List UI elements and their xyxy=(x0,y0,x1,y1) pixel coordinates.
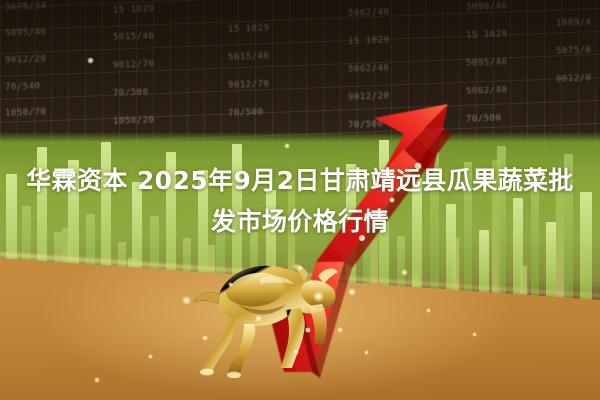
golden-bull xyxy=(168,248,343,378)
page-title: 华霖资本 2025年9月2日甘肃靖远县瓜果蔬菜批 发市场价格行情 xyxy=(0,160,600,242)
thumbnail-canvas: 3078/345095/469012/2070/5401050/7015 102… xyxy=(0,0,600,400)
title-line-1: 华霖资本 2025年9月2日甘肃靖远县瓜果蔬菜批 xyxy=(0,160,600,201)
title-line-2: 发市场价格行情 xyxy=(0,201,600,242)
